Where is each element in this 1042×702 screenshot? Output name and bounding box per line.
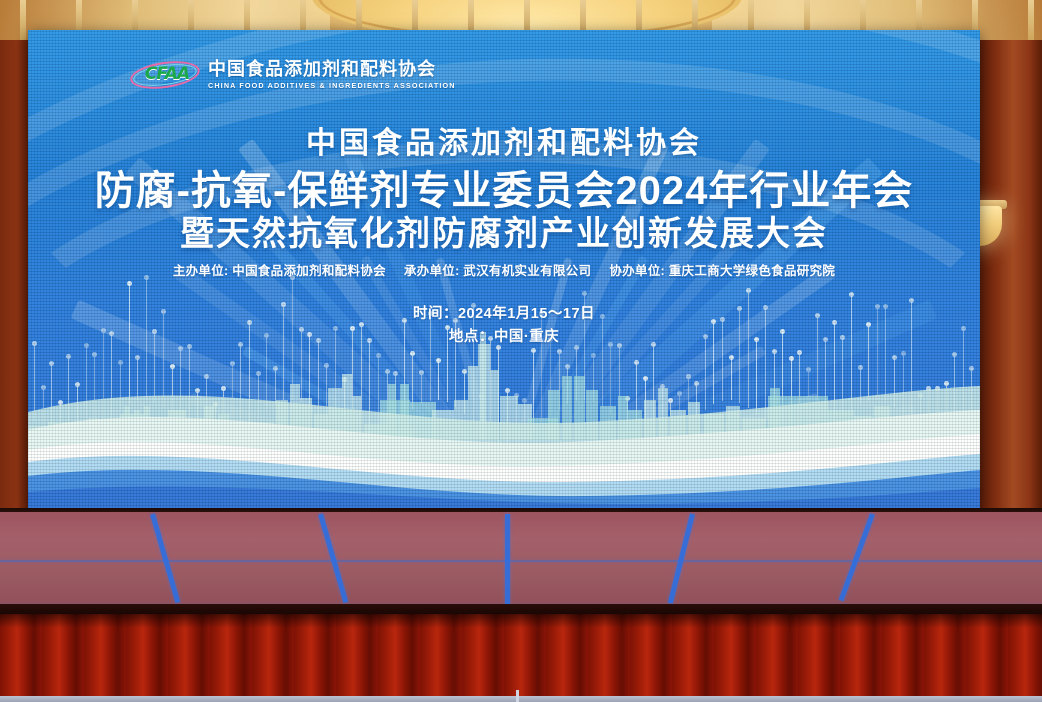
title-line-1: 中国食品添加剂和配料协会	[28, 118, 980, 162]
cfaa-logo-icon: CFAA	[130, 61, 200, 89]
ceiling-slat	[20, 0, 26, 40]
led-screen[interactable]: CFAA 中国食品添加剂和配料协会 CHINA FOOD ADDITIVES &…	[28, 30, 980, 512]
association-logo: CFAA 中国食品添加剂和配料协会 CHINA FOOD ADDITIVES &…	[130, 60, 456, 90]
organizer-item: 协办单位: 重庆工商大学绿色食品研究院	[609, 264, 835, 278]
title-line-3: 暨天然抗氧化剂防腐剂产业创新发展大会	[28, 206, 980, 255]
event-place: 地点：中国·重庆	[28, 325, 980, 346]
organizer-item: 承办单位: 武汉有机实业有限公司	[404, 264, 591, 278]
association-name-en: CHINA FOOD ADDITIVES & INGREDIENTS ASSOC…	[208, 81, 456, 90]
hall-floor-seam	[516, 690, 519, 702]
ceiling-slat	[1028, 0, 1034, 40]
event-time: 时间：2024年1月15～17日	[28, 302, 980, 323]
association-name-block: 中国食品添加剂和配料协会 CHINA FOOD ADDITIVES & INGR…	[208, 60, 456, 90]
hall-floor-strip	[0, 696, 1042, 702]
stage-tape-diagonal	[505, 514, 510, 606]
stage-tape-horizontal	[0, 560, 1042, 562]
led-screen-content: CFAA 中国食品添加剂和配料协会 CHINA FOOD ADDITIVES &…	[28, 30, 980, 512]
conference-stage-photo: CFAA 中国食品添加剂和配料协会 CHINA FOOD ADDITIVES &…	[0, 0, 1042, 702]
stage-skirt-shadow	[0, 614, 1042, 628]
left-wall-trim	[0, 0, 28, 520]
association-name-cn: 中国食品添加剂和配料协会	[208, 60, 456, 79]
cfaa-monogram: CFAA	[139, 64, 195, 84]
organizer-item: 主办单位: 中国食品添加剂和配料协会	[173, 264, 386, 278]
organizer-line: 主办单位: 中国食品添加剂和配料协会承办单位: 武汉有机实业有限公司协办单位: …	[28, 260, 980, 279]
